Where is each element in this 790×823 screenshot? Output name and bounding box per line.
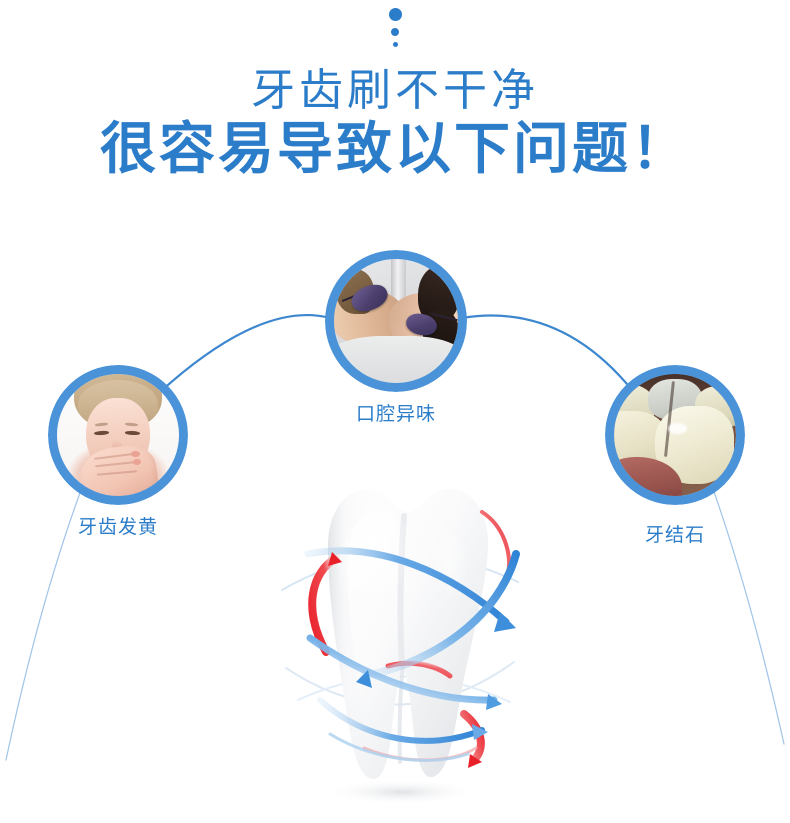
3d-molar-tooth-illustration [268, 462, 532, 807]
problem-label-tartar: 牙结石 [605, 520, 745, 547]
bubble-ring [48, 365, 188, 505]
tooth-highlight [338, 512, 422, 636]
connector-left-to-center [160, 315, 330, 392]
problem-bubble-yellow-teeth[interactable] [48, 365, 188, 505]
page-title: 牙齿刷不干净 很容易导致以下问题！ [0, 68, 790, 179]
promo-page: 牙齿刷不干净 很容易导致以下问题！ [0, 0, 790, 823]
headline-line-1: 牙齿刷不干净 [0, 68, 790, 114]
tooth-shadow [324, 779, 480, 805]
connector-center-to-right [462, 316, 632, 390]
three-dots-decoration [0, 8, 790, 47]
bubble-ring [605, 365, 745, 505]
dot-large-icon [389, 8, 402, 21]
dot-small-icon [393, 42, 398, 47]
problem-label-yellow-teeth: 牙齿发黄 [48, 512, 188, 539]
problem-bubble-tartar[interactable] [605, 365, 745, 505]
dot-medium-icon [391, 28, 399, 36]
problem-label-bad-breath: 口腔异味 [324, 399, 468, 426]
headline-line-2: 很容易导致以下问题！ [0, 120, 790, 179]
problem-bubble-bad-breath[interactable] [325, 250, 467, 392]
bubble-ring [325, 250, 467, 392]
tooth-root-split [400, 666, 403, 762]
